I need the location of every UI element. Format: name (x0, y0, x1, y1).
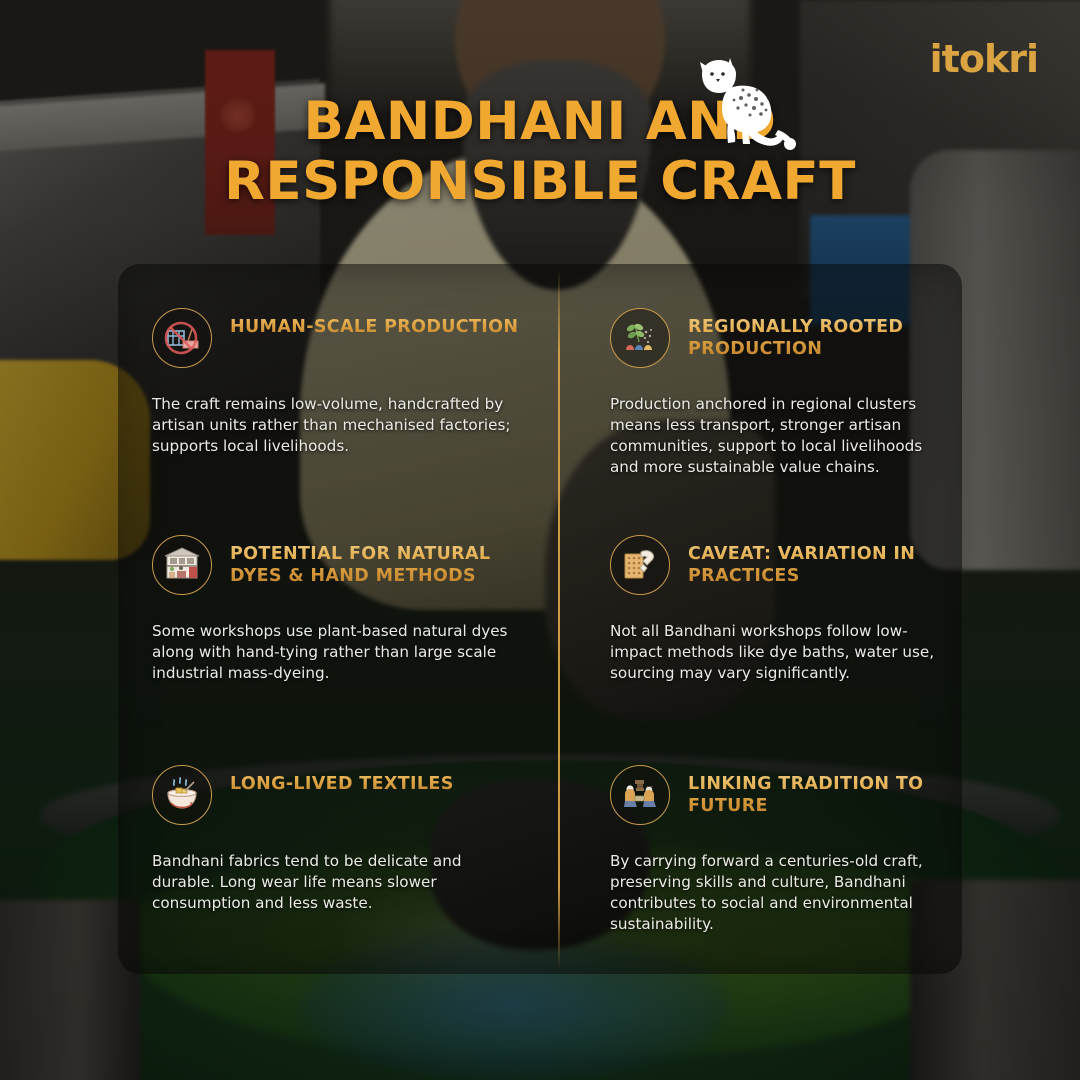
benefit-item: LINKING TRADITION TO FUTURE By carrying … (558, 737, 962, 974)
no-factory-icon (152, 308, 212, 368)
plant-pigments-icon (610, 308, 670, 368)
benefit-header: POTENTIAL FOR NATURAL DYES & HAND METHOD… (152, 535, 524, 595)
benefit-body: Some workshops use plant-based natural d… (152, 621, 524, 684)
benefit-body: The craft remains low-volume, handcrafte… (152, 394, 524, 457)
page-title: BANDHANI AND RESPONSIBLE CRAFT (0, 92, 1080, 212)
benefit-item: HUMAN-SCALE PRODUCTION The craft remains… (118, 264, 558, 501)
benefit-title: CAVEAT: VARIATION IN PRACTICES (688, 535, 944, 587)
page-title-line-1: BANDHANI AND (0, 92, 1080, 152)
benefit-item: REGIONALLY ROOTED PRODUCTION Production … (558, 264, 962, 501)
benefit-header: REGIONALLY ROOTED PRODUCTION (610, 308, 944, 368)
steaming-dye-pot-icon (152, 765, 212, 825)
benefit-title: LINKING TRADITION TO FUTURE (688, 765, 944, 817)
workshop-building-icon (152, 535, 212, 595)
benefit-body: Not all Bandhani workshops follow low-im… (610, 621, 944, 684)
brand-logo-text: itokri (930, 37, 1038, 81)
benefit-item: LONG-LIVED TEXTILES Bandhani fabrics ten… (118, 737, 558, 974)
benefit-title: POTENTIAL FOR NATURAL DYES & HAND METHOD… (230, 535, 524, 587)
hand-holding-fabric-icon (610, 535, 670, 595)
page-title-line-2: RESPONSIBLE CRAFT (0, 152, 1080, 212)
benefit-body: By carrying forward a centuries-old craf… (610, 851, 944, 935)
benefit-body: Production anchored in regional clusters… (610, 394, 944, 478)
benefit-body: Bandhani fabrics tend to be delicate and… (152, 851, 524, 914)
benefit-header: LINKING TRADITION TO FUTURE (610, 765, 944, 825)
benefit-item: POTENTIAL FOR NATURAL DYES & HAND METHOD… (118, 501, 558, 738)
cat-illustration-icon (686, 52, 798, 152)
brand-logo[interactable]: itokri (930, 40, 1038, 78)
benefit-title: LONG-LIVED TEXTILES (230, 765, 454, 795)
benefit-header: HUMAN-SCALE PRODUCTION (152, 308, 524, 368)
infographic-canvas: itokri BANDHANI AND RESPONSIBLE CRAFT (0, 0, 1080, 1080)
benefits-grid: HUMAN-SCALE PRODUCTION The craft remains… (118, 264, 962, 974)
benefit-item: CAVEAT: VARIATION IN PRACTICES Not all B… (558, 501, 962, 738)
benefit-header: CAVEAT: VARIATION IN PRACTICES (610, 535, 944, 595)
benefit-title: REGIONALLY ROOTED PRODUCTION (688, 308, 944, 360)
benefit-header: LONG-LIVED TEXTILES (152, 765, 524, 825)
benefit-title: HUMAN-SCALE PRODUCTION (230, 308, 518, 338)
two-artisans-icon (610, 765, 670, 825)
